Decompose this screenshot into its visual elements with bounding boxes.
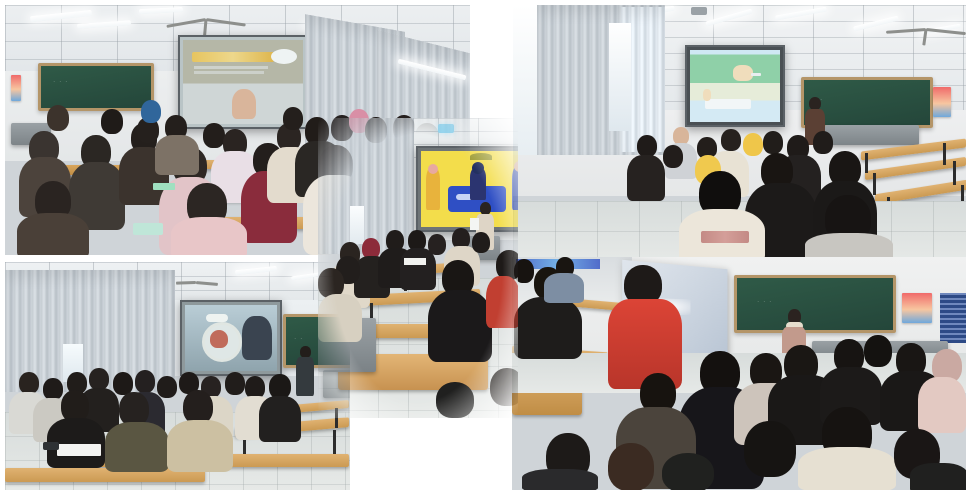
desk-item-phone [43,442,59,450]
desk-item-book [133,223,163,235]
student-jacket-text [701,231,749,243]
student-red-hoodie [608,265,682,385]
slide-hand-graphic [733,65,753,81]
wall-poster [11,75,21,101]
slide-figure-center-head [472,162,484,174]
ceiling-fan-icon [205,17,207,19]
slide-photo-subject [232,89,256,119]
ceiling-fan-icon [195,280,197,282]
ceiling-fan-icon [925,27,927,29]
projector [438,124,454,133]
slide-headline [192,52,274,62]
projector [691,7,707,15]
window [350,206,364,244]
presenter [296,346,314,396]
projection-screen [416,146,518,232]
desk-item-paper [404,258,426,265]
slide-figure-graphic [703,89,711,101]
slide-figure-left [426,168,440,210]
projection-screen [180,300,282,376]
photo-bottom-right[interactable]: · · · [512,257,966,490]
chalkboard: · · · [734,275,896,333]
desk-item-book [153,183,175,190]
handheld-paper [470,218,479,230]
slide-lungs-diagram-inner [210,330,228,348]
slide-bed-graphic [705,99,751,109]
photo-bottom-left[interactable]: · · [5,262,350,490]
photo-collage: · · · [0,0,971,495]
slide-figure-graphic [242,316,272,360]
photo-top-right[interactable]: · [513,5,966,263]
slide-speech-bubble [206,314,228,322]
desk-item-notebook [57,444,101,456]
slide-figure-left-head [428,164,438,174]
wall-vent-grille [940,293,966,343]
slide-lamp-graphic [470,153,492,160]
slide-bodytext [194,71,264,74]
photo-center[interactable]: · · [318,118,518,418]
slide-figure-right [512,166,518,210]
wall-poster [933,87,951,117]
slide-cigarette-graphic [751,73,761,76]
wall-poster [902,293,932,323]
window [609,23,631,131]
slide-cloud-graphic [271,49,297,64]
slide-bodytext [194,66,268,69]
teaching-podium [825,125,919,145]
projection-screen [685,45,785,127]
chalkboard: · · · [38,63,154,111]
